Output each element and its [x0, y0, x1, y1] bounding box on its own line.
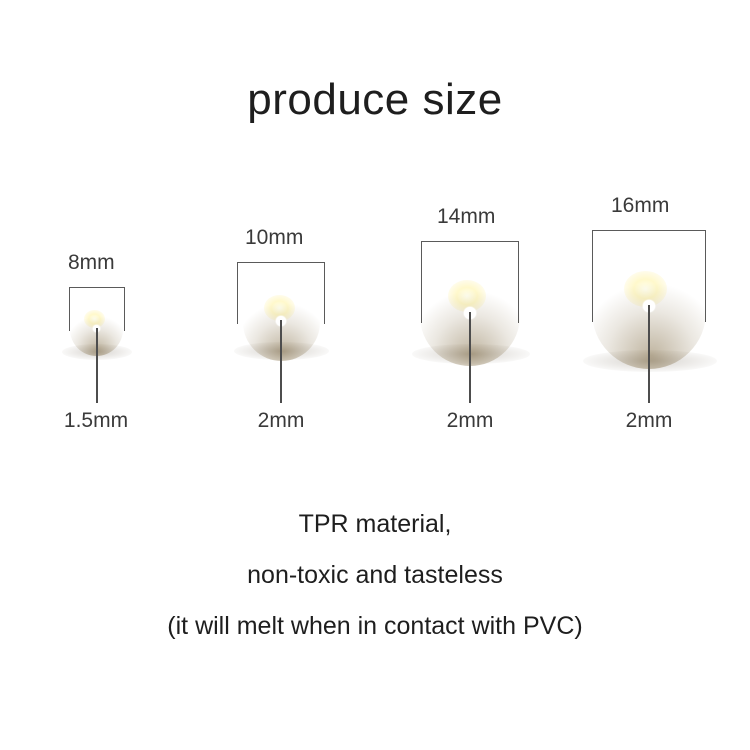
hole-leader-line-3	[469, 312, 471, 403]
size-diagram: 8mm 1.5mm 10mm 2mm 14mm	[0, 0, 750, 470]
footer-text: TPR material, non-toxic and tasteless (i…	[0, 512, 750, 639]
outer-dimension-label-4: 16mm	[611, 195, 669, 216]
outer-dimension-label-3: 14mm	[437, 206, 495, 227]
outer-dimension-label-2: 10mm	[245, 227, 303, 248]
footer-line-1: TPR material,	[0, 512, 750, 537]
hole-dimension-label-2: 2mm	[231, 410, 331, 431]
hole-leader-line-4	[648, 305, 650, 403]
footer-line-3: (it will melt when in contact with PVC)	[0, 614, 750, 639]
hole-dimension-label-1: 1.5mm	[46, 410, 146, 431]
hole-leader-line-2	[280, 320, 282, 403]
footer-line-2: non-toxic and tasteless	[0, 563, 750, 588]
hole-dimension-label-3: 2mm	[420, 410, 520, 431]
hole-leader-line-1	[96, 328, 98, 403]
hole-dimension-label-4: 2mm	[599, 410, 699, 431]
outer-dimension-label-1: 8mm	[68, 252, 115, 273]
product-size-infographic: produce size 8mm 1.5mm 10mm 2mm	[0, 0, 750, 750]
